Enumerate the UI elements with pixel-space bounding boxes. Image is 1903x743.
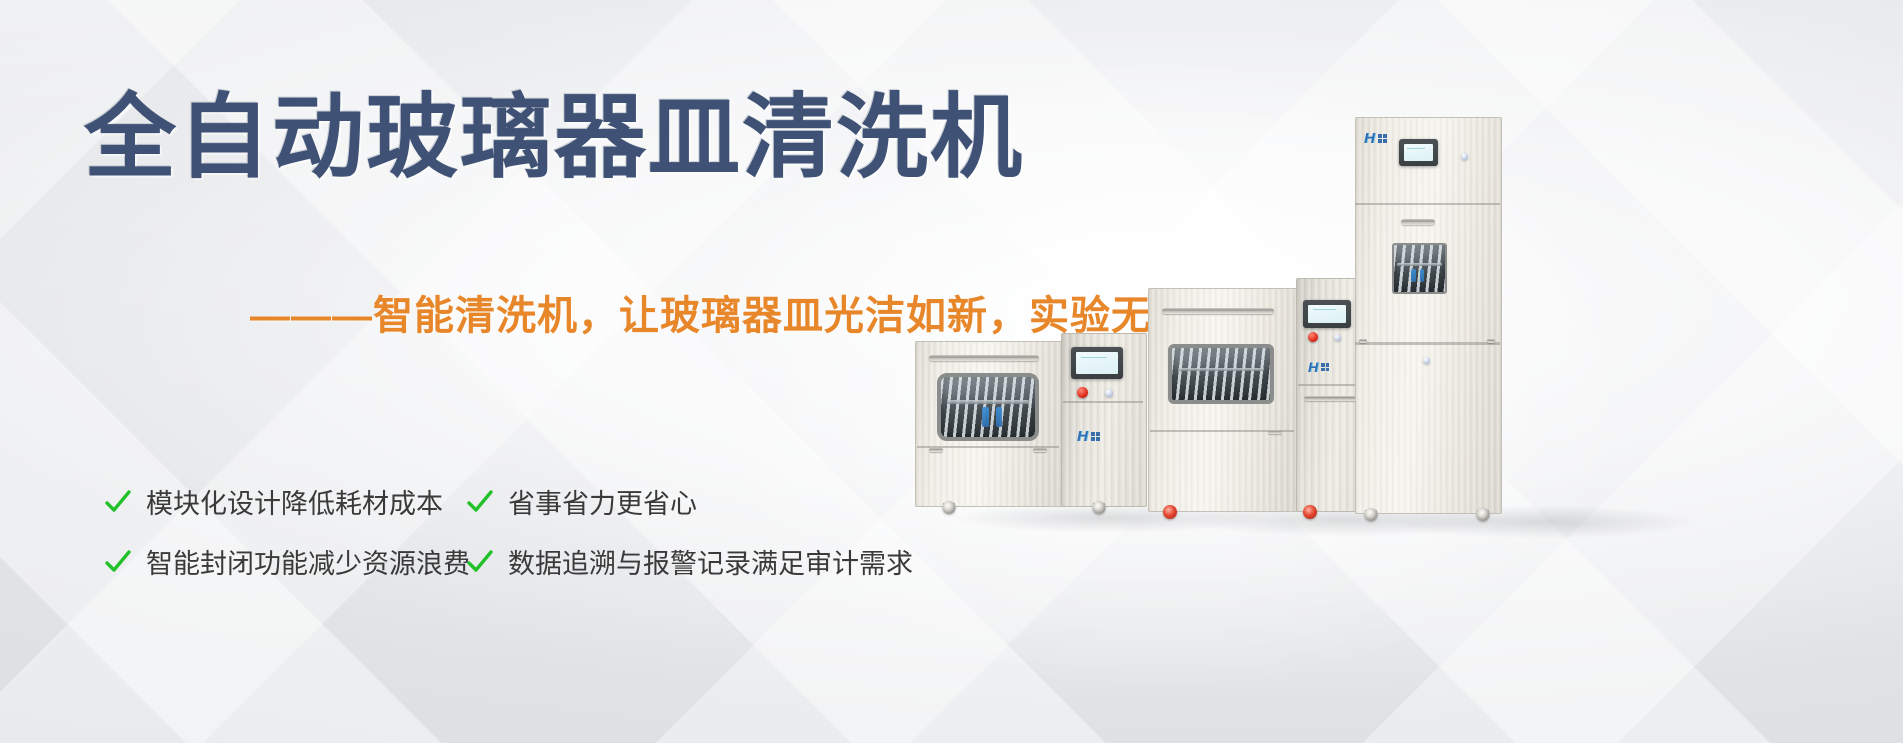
touchscreen-display xyxy=(1404,144,1433,161)
washer3-touchscreen[interactable] xyxy=(1399,139,1438,166)
product-washer-2: H xyxy=(1148,278,1373,510)
washer1-panel-seam xyxy=(1063,401,1143,403)
washer3-section-seam xyxy=(1355,203,1500,205)
washer-rack xyxy=(947,400,1030,404)
brand-logo: H xyxy=(1308,360,1329,374)
brand-logo-squares xyxy=(1321,363,1329,371)
caster-wheel xyxy=(1477,510,1489,517)
brand-logo-mark: H xyxy=(1364,131,1375,146)
washer2-lower-door-handle[interactable] xyxy=(1268,430,1282,434)
lower-panel-latch[interactable] xyxy=(1423,357,1430,364)
power-indicator-light[interactable] xyxy=(1105,389,1113,397)
blue-pipette-holder xyxy=(982,407,989,427)
caster-wheel xyxy=(1164,508,1176,515)
washer1-lower-door-handle[interactable] xyxy=(929,448,943,452)
product-washer-3: H xyxy=(1355,117,1500,512)
washer2-touchscreen[interactable] xyxy=(1303,300,1351,328)
brand-logo: H xyxy=(1364,131,1387,146)
washer2-view-window xyxy=(1168,344,1274,404)
caster-wheel xyxy=(1365,510,1377,517)
washer3-view-window xyxy=(1392,243,1447,294)
caster-wheel xyxy=(1304,508,1316,515)
touchscreen-display xyxy=(1308,305,1346,323)
brand-logo: H xyxy=(1077,429,1100,444)
emergency-stop-button[interactable] xyxy=(1308,332,1318,342)
blue-pipette-holder xyxy=(1411,269,1416,281)
power-indicator-light[interactable] xyxy=(1461,153,1468,160)
glassware-load xyxy=(1172,348,1270,400)
washer3-body xyxy=(1355,117,1502,514)
power-indicator-light[interactable] xyxy=(1334,334,1341,341)
caster-wheel xyxy=(1093,503,1105,510)
washer1-lower-door-handle[interactable] xyxy=(1033,448,1047,452)
caster-wheel xyxy=(943,503,955,510)
product-washer-1: H xyxy=(915,333,1145,505)
brand-logo-mark: H xyxy=(1308,360,1318,374)
glassware-load xyxy=(1394,245,1445,292)
emergency-stop-button[interactable] xyxy=(1077,387,1088,398)
washer3-lower-door-handle[interactable] xyxy=(1487,339,1495,343)
blue-pipette-holder xyxy=(1420,269,1425,281)
washer1-lid-handle[interactable] xyxy=(929,355,1039,361)
washer3-lower-seam xyxy=(1355,342,1500,345)
washer3-lower-door-handle[interactable] xyxy=(1359,339,1367,343)
product-image-group: H xyxy=(0,0,1903,743)
product-banner: 全自动玻璃器皿清洗机 ———智能清洗机，让玻璃器皿光洁如新，实验无忧！ 模块化设… xyxy=(0,0,1903,743)
washer1-view-window xyxy=(937,373,1039,441)
washer1-touchscreen[interactable] xyxy=(1071,347,1123,379)
brand-logo-squares xyxy=(1091,432,1100,441)
washer-rack xyxy=(1178,368,1264,372)
washer3-door-handle[interactable] xyxy=(1401,219,1435,225)
touchscreen-display xyxy=(1076,352,1118,374)
brand-logo-squares xyxy=(1378,134,1387,143)
washer-rack xyxy=(1397,263,1442,266)
brand-logo-mark: H xyxy=(1077,429,1088,444)
washer2-lid-handle[interactable] xyxy=(1162,308,1274,314)
blue-pipette-holder xyxy=(996,407,1003,427)
